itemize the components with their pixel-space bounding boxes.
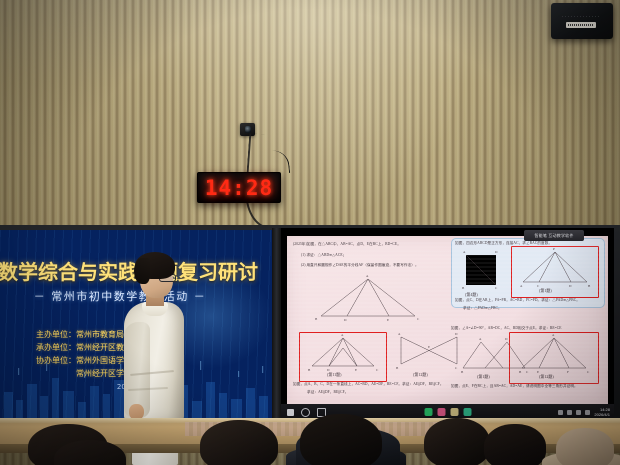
audience-head	[556, 428, 614, 465]
network-icon[interactable]	[558, 410, 563, 415]
question-13-text: 如图，点E、F在BC上，且AB=AC，AD=AE，请说明图中全等三角形并证明。	[451, 384, 578, 389]
led-wall-clock: 14:28	[197, 172, 281, 203]
taskbar-left-group[interactable]	[281, 408, 326, 417]
svg-text:C: C	[587, 370, 590, 374]
svg-text:B: B	[519, 370, 522, 374]
svg-text:B: B	[308, 368, 311, 372]
camera-lens-icon	[245, 126, 251, 133]
figure-label: (第12题)	[539, 374, 554, 380]
svg-text:C: C	[455, 366, 458, 370]
svg-text:F: F	[567, 370, 569, 374]
figure-label: (第11题)	[327, 372, 342, 378]
question-5-proof: 求证：△PAD≌△PBC。	[463, 306, 502, 311]
svg-text:E: E	[428, 345, 430, 349]
svg-text:B: B	[396, 366, 399, 370]
svg-text:B: B	[588, 284, 591, 288]
svg-text:B: B	[461, 370, 464, 374]
question-24-part2: (2) 用直尺和圆规作∠DAE的平分线AF（保留作图痕迹，不要写作法）。	[301, 263, 419, 268]
figure-isosceles-triangle-3: ABE FC	[517, 336, 591, 374]
taskbar-clock[interactable]: 14:28 2026/4/1	[594, 407, 610, 417]
figure-label: (第12题)	[413, 372, 428, 378]
app-pink-icon[interactable]	[437, 408, 445, 416]
ceiling-speaker	[551, 3, 613, 39]
audience-head	[300, 414, 382, 465]
question-5-text: 如图，点C、D在AB上，PA=PB，AC=BD，PC=PD。求证：△PAD≌△P…	[455, 298, 580, 303]
taskbar-tray-group[interactable]: 14:28 2026/4/1	[558, 407, 610, 417]
software-badge[interactable]: 智能笔 互动教学软件	[524, 230, 584, 241]
battery-icon[interactable]	[585, 410, 590, 415]
svg-text:D: D	[569, 284, 572, 288]
figure-square-abcd: AD BC	[461, 252, 501, 290]
speaker-grille-icon	[561, 15, 601, 19]
figure-label: (第1题)	[539, 288, 552, 294]
svg-text:D: D	[505, 337, 508, 341]
svg-text:D: D	[455, 332, 458, 336]
svg-text:B: B	[462, 286, 465, 290]
volume-icon[interactable]	[567, 410, 572, 415]
svg-text:A: A	[398, 332, 401, 336]
speaker-label-sticker	[566, 22, 596, 28]
right-display-panel[interactable]: (2025年)如图，在△ABC中，AB=AC，点D、E在BC上，BD=CE。 (…	[281, 228, 614, 420]
display-divider	[272, 228, 281, 422]
question-12-text: 如图，点A、B、C、D在一条直线上，AC=BD，AE=DF，BE=CF。求证：A…	[293, 382, 444, 387]
svg-text:C: C	[376, 368, 379, 372]
svg-text:A: A	[366, 274, 369, 278]
clock-time-display: 14:28	[205, 176, 273, 200]
question-11-text: 如图，∠A=∠D=90°，AB=DC，AC、BD相交于点E。求证：BE=CE	[451, 326, 562, 331]
figure-triangle-pab: PAC DB	[519, 250, 591, 288]
svg-text:P: P	[553, 247, 555, 251]
ime-icon[interactable]	[576, 410, 581, 415]
figure-label: (第1题)	[477, 374, 490, 380]
svg-text:D: D	[344, 318, 347, 322]
svg-text:C: C	[495, 286, 498, 290]
question-24-part1: (1) 求证：△ABD≌△ACE；	[301, 253, 346, 258]
start-icon[interactable]	[287, 409, 294, 416]
software-badge-label: 智能笔 互动教学软件	[534, 233, 573, 239]
worksheet-document[interactable]: (2025年)如图，在△ABC中，AB=AC，点D、E在BC上，BD=CE。 (…	[287, 236, 608, 404]
figure-crossed-lines: AD BCE	[395, 334, 465, 372]
svg-text:C: C	[417, 317, 420, 321]
audience-head	[484, 424, 546, 465]
classroom-scene: 14:28	[0, 0, 620, 465]
svg-text:E: E	[355, 368, 357, 372]
figure-isosceles-triangle-2: ABD EC	[307, 336, 379, 372]
app-green-icon[interactable]	[424, 408, 432, 416]
presenter-hair-side	[134, 258, 150, 284]
audience-head	[200, 420, 278, 465]
svg-text:A: A	[479, 337, 482, 341]
app-photo-icon[interactable]	[450, 408, 458, 416]
svg-text:A: A	[520, 284, 523, 288]
app-teal-icon[interactable]	[463, 408, 471, 416]
svg-text:E: E	[387, 318, 389, 322]
taskbar-clock-date: 2026/4/1	[594, 412, 610, 417]
search-icon[interactable]	[301, 408, 310, 417]
audience-head	[424, 418, 490, 465]
figure-isosceles-triangle-1: ABD EC	[313, 276, 423, 322]
taskbar-app-group[interactable]	[424, 408, 471, 416]
question-12-cont: 求证：AE∥DF，BE∥CF。	[307, 390, 348, 395]
svg-text:B: B	[315, 317, 318, 321]
